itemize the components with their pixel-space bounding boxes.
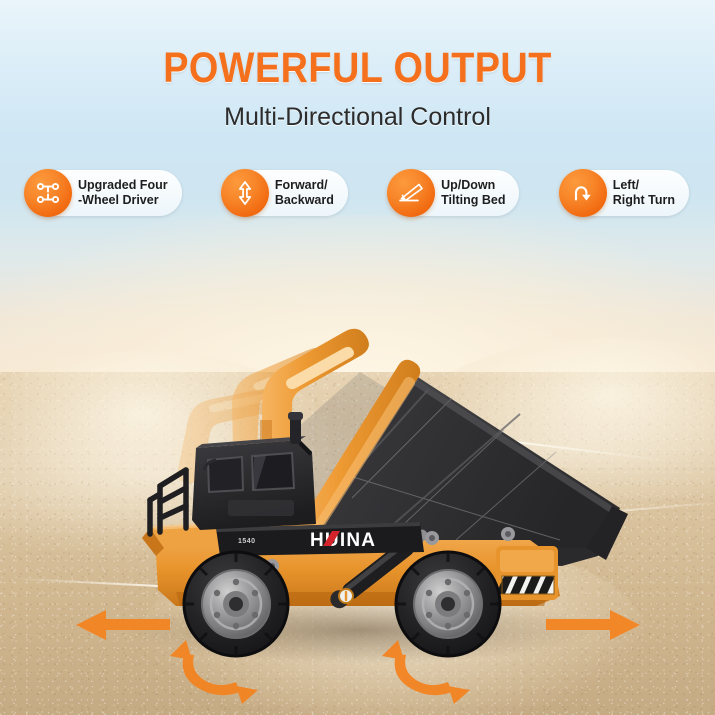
rear-wheel-turn-arc — [382, 640, 470, 704]
motion-arrow-group — [0, 0, 715, 715]
right-travel-arrow — [546, 610, 640, 640]
front-wheel-turn-arc — [170, 640, 258, 704]
left-travel-arrow — [76, 610, 170, 640]
